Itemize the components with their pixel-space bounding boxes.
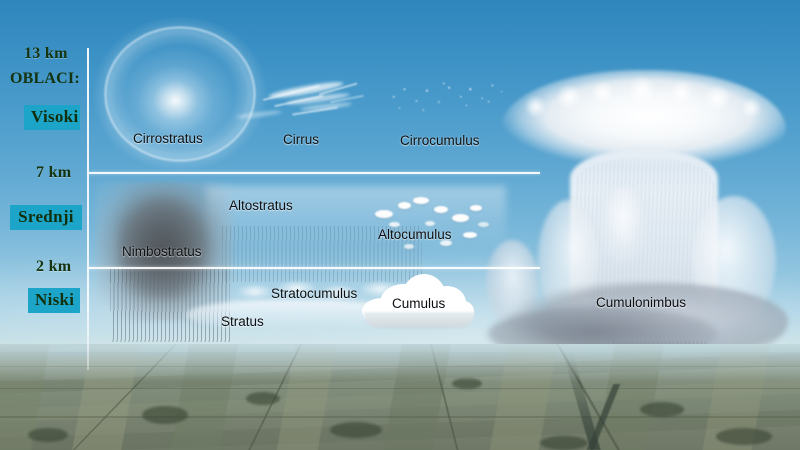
altocumulus-puff <box>404 244 414 249</box>
cloud-label-altostratus: Altostratus <box>229 198 293 213</box>
woodlot <box>246 392 280 405</box>
cloud-label-altocumulus: Altocumulus <box>378 227 452 242</box>
altocumulus-puff <box>463 232 477 238</box>
altocumulus-puff <box>398 202 411 209</box>
woodlot <box>28 428 68 442</box>
altocumulus-puff <box>452 214 469 222</box>
category-middle: Srednji <box>10 205 82 230</box>
ground-landscape <box>0 344 800 450</box>
level-line-7km <box>88 172 540 174</box>
cloud-types-diagram: 13 km OBLACI: 7 km 2 km Visoki Srednji N… <box>0 0 800 450</box>
altocumulus-puff <box>478 222 489 227</box>
cloud-label-nimbostratus: Nimbostratus <box>122 244 202 259</box>
altitude-axis <box>87 48 89 370</box>
level-line-2km <box>88 267 540 269</box>
cumulonimbus-anvil-turrets <box>502 66 782 124</box>
cloud-label-cumulonimbus: Cumulonimbus <box>596 295 686 310</box>
cloud-label-cumulus: Cumulus <box>392 296 445 311</box>
altocumulus-puff <box>375 210 393 218</box>
altocumulus-puff <box>413 197 429 204</box>
woodlot <box>540 436 588 450</box>
altocumulus-puff <box>470 205 482 211</box>
woodlot <box>330 422 382 438</box>
woodlot <box>142 406 188 424</box>
altocumulus-puff <box>425 221 435 226</box>
altitude-label-13km: 13 km <box>24 45 68 63</box>
road <box>0 388 800 389</box>
cloud-label-cirrus: Cirrus <box>283 132 319 147</box>
category-high: Visoki <box>24 105 80 130</box>
horizon-haze <box>0 344 800 382</box>
cloud-label-stratus: Stratus <box>221 314 264 329</box>
cloud-label-cirrostratus: Cirrostratus <box>133 131 203 146</box>
cumulonimbus-turret <box>598 186 648 264</box>
road <box>0 416 800 418</box>
cumulus-flat-base <box>364 312 474 328</box>
cloud-label-stratocumulus: Stratocumulus <box>271 286 357 301</box>
woodlot <box>716 428 772 445</box>
category-low: Niski <box>28 288 80 313</box>
diagram-title: OBLACI: <box>10 70 80 88</box>
altitude-label-2km: 2 km <box>36 258 71 276</box>
woodlot <box>640 402 684 417</box>
altitude-label-7km: 7 km <box>36 164 71 182</box>
cloud-label-cirrocumulus: Cirrocumulus <box>400 133 480 148</box>
altocumulus-puff <box>434 206 448 213</box>
